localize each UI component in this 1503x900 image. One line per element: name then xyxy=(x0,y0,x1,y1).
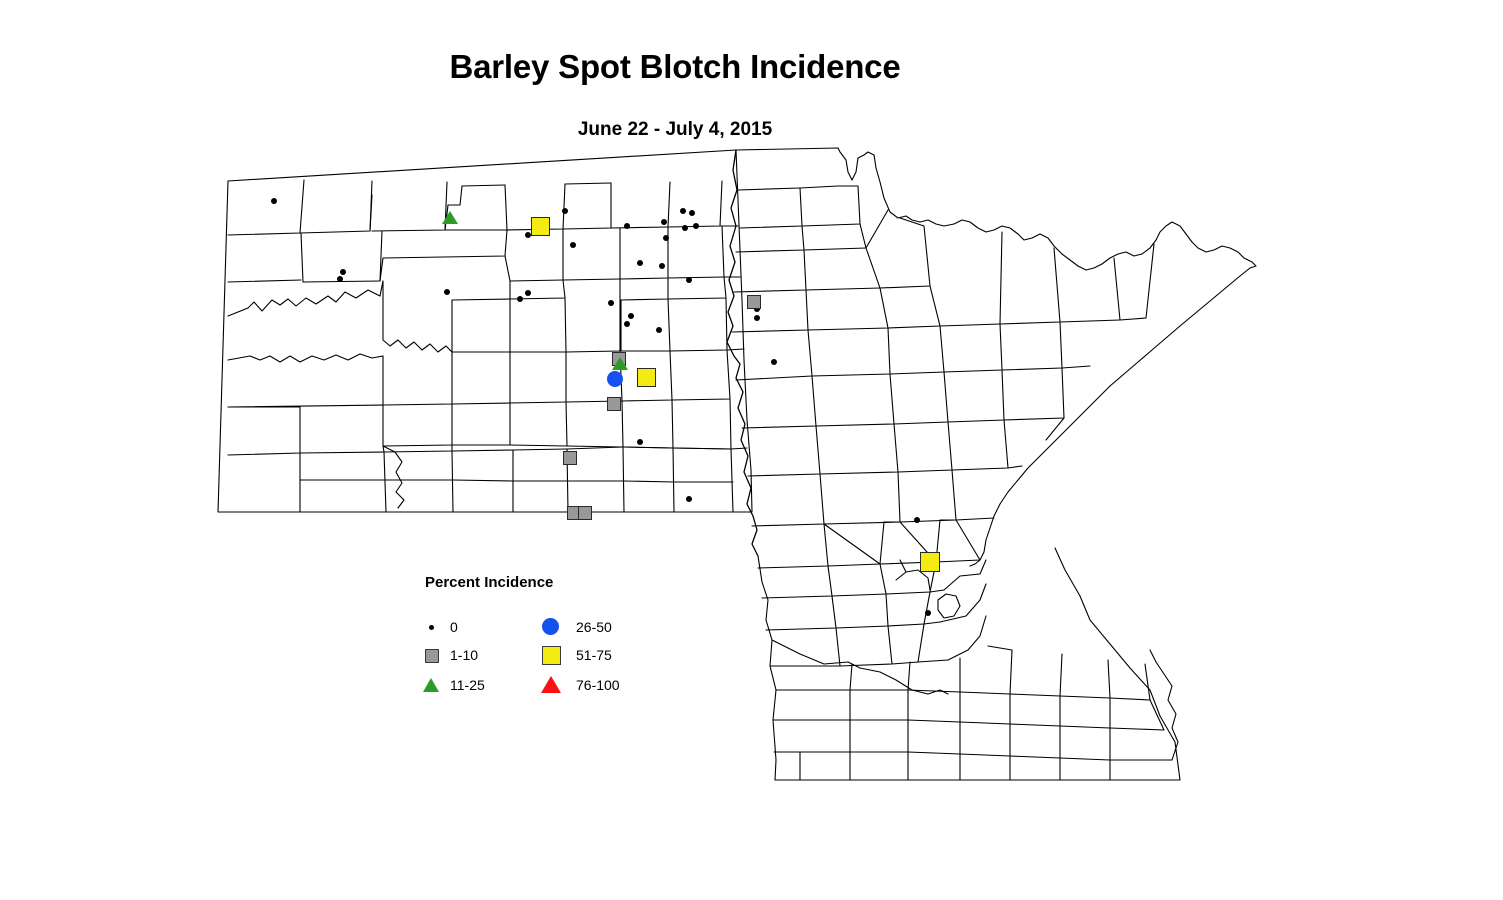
legend-label: 51-75 xyxy=(576,647,612,663)
map-page: Barley Spot Blotch Incidence June 22 - J… xyxy=(0,0,1503,900)
marker-zero[interactable] xyxy=(693,223,699,229)
yellow-square-icon xyxy=(540,644,564,666)
marker-zero[interactable] xyxy=(914,517,920,523)
blue-circle-icon xyxy=(540,616,564,638)
legend-title: Percent Incidence xyxy=(425,574,553,591)
marker-zero[interactable] xyxy=(337,276,343,282)
marker-low[interactable] xyxy=(578,506,592,520)
red-river-border xyxy=(727,150,758,556)
mn-canada-border xyxy=(736,148,1256,270)
marker-moderate[interactable] xyxy=(442,211,458,224)
red-triangle-icon xyxy=(540,674,564,696)
marker-zero[interactable] xyxy=(659,263,665,269)
marker-zero[interactable] xyxy=(656,327,662,333)
legend-label: 26-50 xyxy=(576,619,612,635)
marker-zero[interactable] xyxy=(624,321,630,327)
small-dot-icon xyxy=(420,616,444,638)
marker-zero[interactable] xyxy=(628,313,634,319)
marker-low[interactable] xyxy=(747,295,761,309)
legend: Percent Incidence 0 1-10 11-25 26-5 xyxy=(400,568,660,708)
marker-zero[interactable] xyxy=(637,260,643,266)
marker-zero[interactable] xyxy=(562,208,568,214)
marker-very-high[interactable] xyxy=(920,552,940,572)
county-boundaries xyxy=(218,148,1256,780)
legend-label: 1-10 xyxy=(450,647,478,663)
marker-zero[interactable] xyxy=(771,359,777,365)
marker-zero[interactable] xyxy=(680,208,686,214)
marker-zero[interactable] xyxy=(271,198,277,204)
marker-low[interactable] xyxy=(563,451,577,465)
legend-label: 76-100 xyxy=(576,677,620,693)
marker-zero[interactable] xyxy=(682,225,688,231)
minnesota-river xyxy=(772,640,948,694)
lake-superior-shore xyxy=(970,268,1250,566)
marker-zero[interactable] xyxy=(570,242,576,248)
marker-zero[interactable] xyxy=(689,210,695,216)
marker-zero[interactable] xyxy=(525,290,531,296)
legend-label: 11-25 xyxy=(450,677,485,693)
county-map-svg xyxy=(0,0,1503,900)
map-canvas xyxy=(0,0,1503,900)
marker-very-high[interactable] xyxy=(531,217,550,236)
marker-zero[interactable] xyxy=(686,277,692,283)
gray-square-icon xyxy=(420,644,444,666)
marker-zero[interactable] xyxy=(661,219,667,225)
marker-zero[interactable] xyxy=(754,315,760,321)
marker-zero[interactable] xyxy=(608,300,614,306)
marker-zero[interactable] xyxy=(340,269,346,275)
marker-low[interactable] xyxy=(607,397,621,411)
marker-high[interactable] xyxy=(607,371,623,387)
marker-zero[interactable] xyxy=(925,610,931,616)
nd-state-outline xyxy=(218,150,752,512)
marker-zero[interactable] xyxy=(663,235,669,241)
marker-zero[interactable] xyxy=(686,496,692,502)
green-triangle-icon xyxy=(420,674,444,696)
marker-zero[interactable] xyxy=(444,289,450,295)
marker-moderate[interactable] xyxy=(612,357,628,370)
mn-southwest-outline xyxy=(758,548,1180,780)
marker-zero[interactable] xyxy=(517,296,523,302)
legend-label: 0 xyxy=(450,619,458,635)
marker-very-high[interactable] xyxy=(637,368,656,387)
marker-zero[interactable] xyxy=(637,439,643,445)
marker-zero[interactable] xyxy=(624,223,630,229)
